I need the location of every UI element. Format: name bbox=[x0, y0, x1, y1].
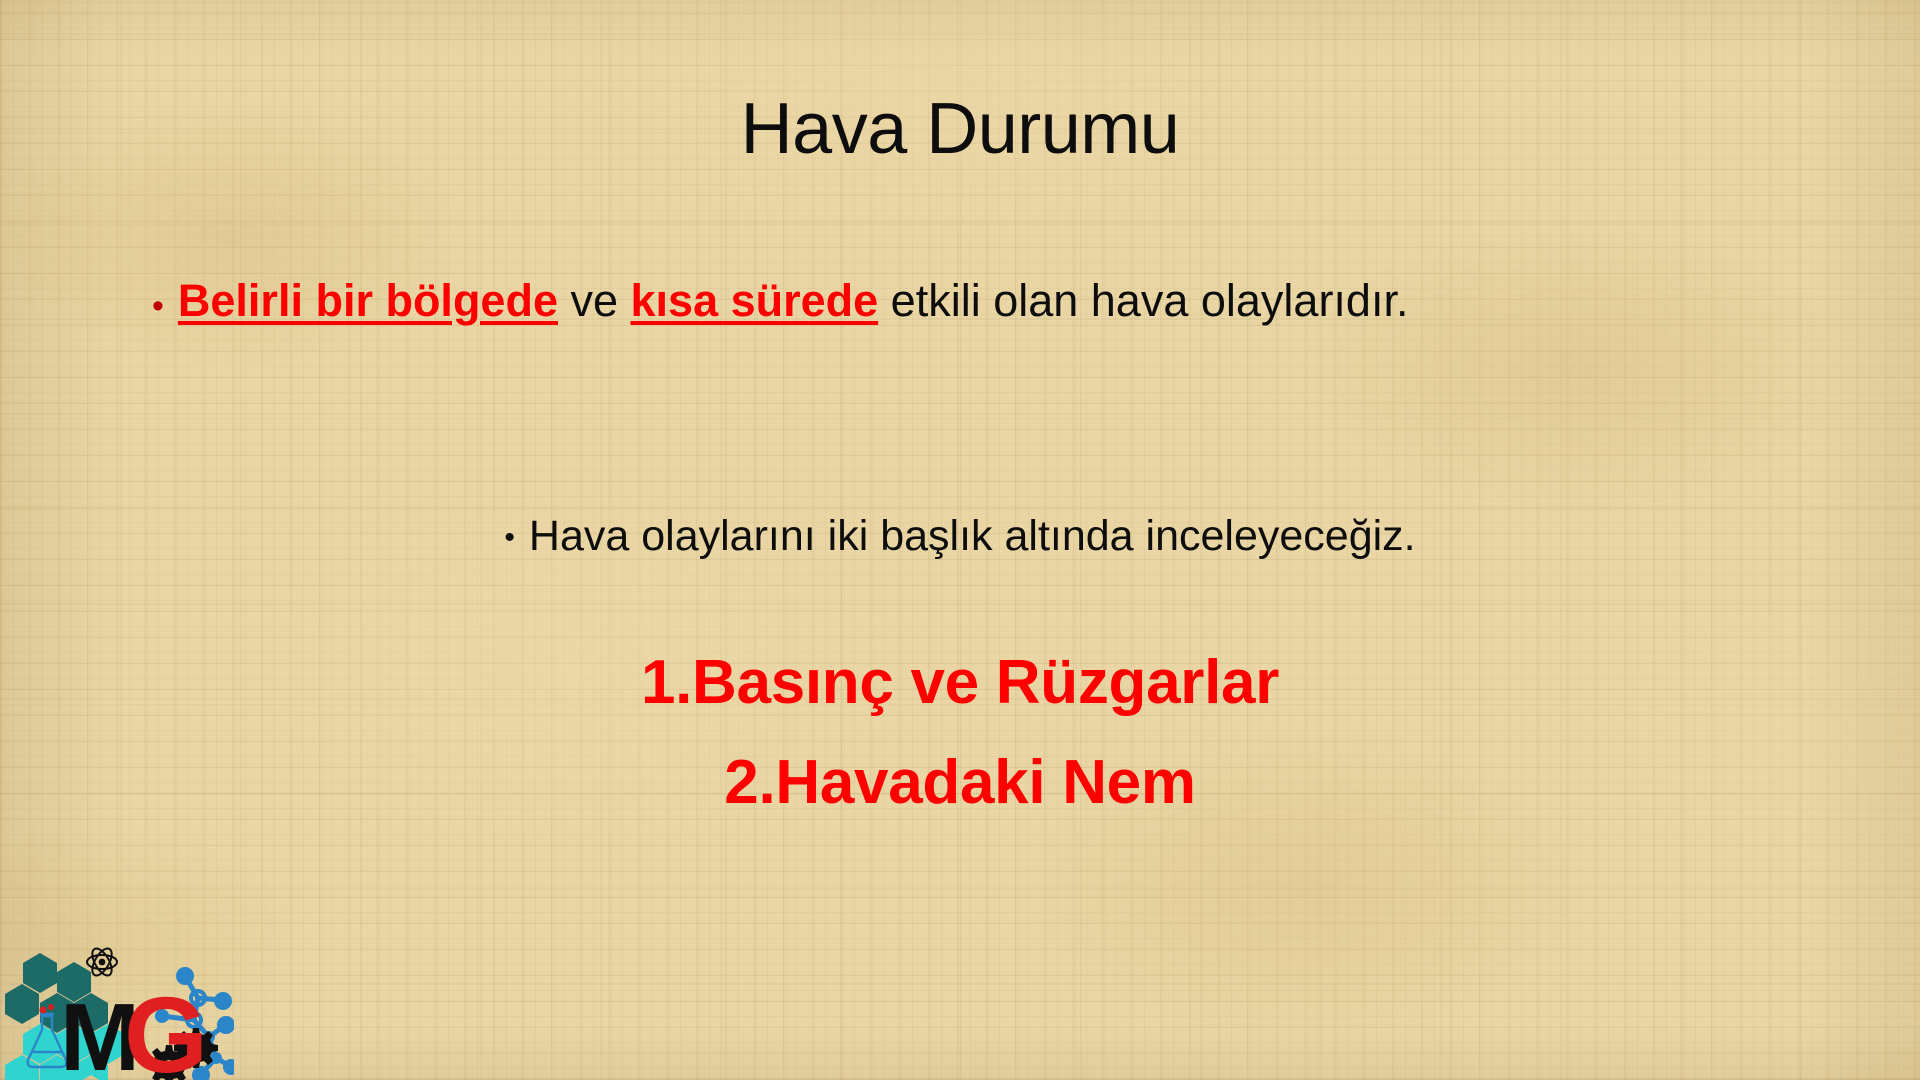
bullet-text-1: Belirli bir bölgede ve kısa sürede etkil… bbox=[178, 275, 1409, 327]
slide-content: Hava Durumu • Belirli bir bölgede ve kıs… bbox=[0, 0, 1920, 1080]
logo-letter-g: G bbox=[124, 974, 208, 1080]
slide-title: Hava Durumu bbox=[0, 92, 1920, 168]
bullet-1-highlight-1: Belirli bir bölgede bbox=[178, 275, 558, 326]
numbered-item-2: 2.Havadaki Nem bbox=[0, 750, 1920, 817]
bullet-item-2: • Hava olaylarını iki başlık altında inc… bbox=[0, 512, 1920, 561]
slide-canvas: Hava Durumu • Belirli bir bölgede ve kıs… bbox=[0, 0, 1920, 1080]
numbered-item-1: 1.Basınç ve Rüzgarlar bbox=[0, 650, 1920, 717]
bullet-marker-icon-1: • bbox=[152, 275, 164, 323]
mg-science-logo: M G bbox=[2, 940, 234, 1080]
bullet-1-highlight-2: kısa sürede bbox=[631, 275, 879, 326]
bullet-1-plain-1: ve bbox=[558, 275, 631, 326]
atom-nucleus bbox=[99, 959, 106, 966]
bullet-1-plain-2: etkili olan hava olaylarıdır. bbox=[878, 275, 1408, 326]
bullet-item-1: • Belirli bir bölgede ve kısa sürede etk… bbox=[152, 275, 1792, 327]
bullet-marker-icon-2: • bbox=[504, 512, 515, 553]
bullet-text-2: Hava olaylarını iki başlık altında incel… bbox=[529, 512, 1416, 561]
